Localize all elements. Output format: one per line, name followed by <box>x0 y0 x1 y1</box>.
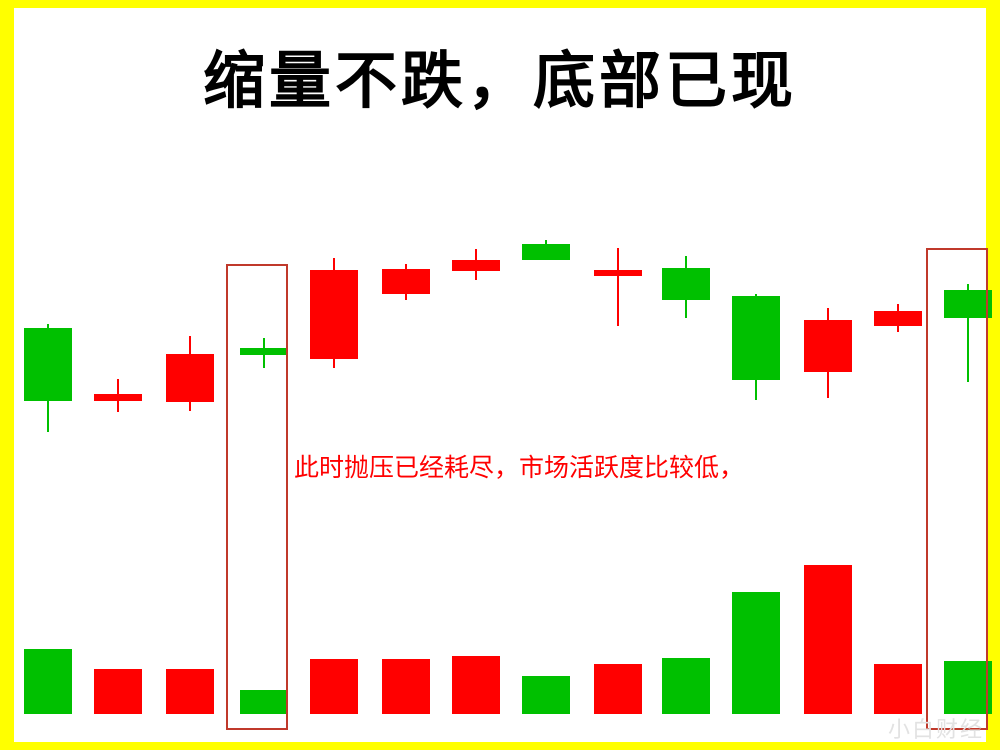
volume-13 <box>874 664 922 714</box>
volume-7 <box>452 656 500 714</box>
candle-6 <box>382 269 430 294</box>
volume-2 <box>94 669 142 714</box>
left-shrinking-volume-box[interactable] <box>226 264 288 730</box>
volume-8 <box>522 676 570 714</box>
candle-10 <box>662 268 710 300</box>
candle-7 <box>452 260 500 271</box>
candle-13 <box>874 311 922 326</box>
annotation-text: 此时抛压已经耗尽，市场活跃度比较低， <box>294 448 744 484</box>
volume-9 <box>594 664 642 714</box>
candle-wick <box>617 248 619 326</box>
candle-3 <box>166 354 214 402</box>
volume-5 <box>310 659 358 714</box>
candle-8 <box>522 244 570 260</box>
candlestick-plot <box>14 8 986 742</box>
candle-5 <box>310 270 358 359</box>
volume-11 <box>732 592 780 714</box>
volume-10 <box>662 658 710 714</box>
right-shrinking-volume-box[interactable] <box>926 248 988 730</box>
volume-12 <box>804 565 852 714</box>
candle-2 <box>94 394 142 401</box>
volume-3 <box>166 669 214 714</box>
candle-9 <box>594 270 642 276</box>
watermark: 小白财经 <box>888 712 984 744</box>
candle-11 <box>732 296 780 380</box>
screenshot-root: 缩量不跌，底部已现 此时抛压已经耗尽，市场活跃度比较低， 小白财经 <box>0 0 1000 750</box>
volume-6 <box>382 659 430 714</box>
candle-1 <box>24 328 72 401</box>
candle-12 <box>804 320 852 372</box>
chart-canvas: 缩量不跌，底部已现 此时抛压已经耗尽，市场活跃度比较低， <box>14 8 986 742</box>
volume-1 <box>24 649 72 714</box>
